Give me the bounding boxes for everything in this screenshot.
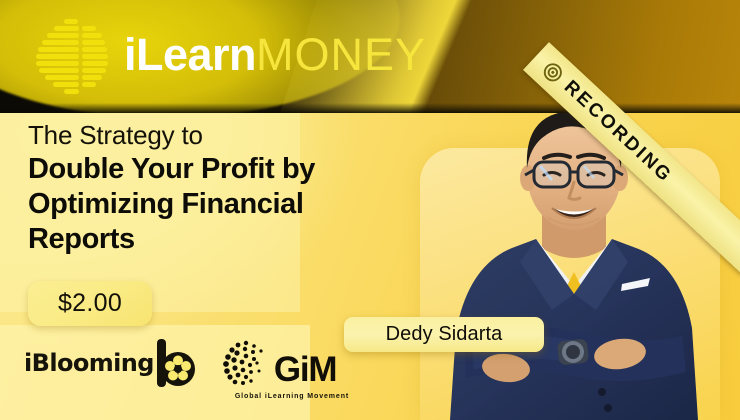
header-bottom-fade [0,103,740,113]
speaker-portrait [424,96,724,420]
price-value: $2.00 [58,289,122,318]
headline-line-4: Reports [28,222,398,257]
headline-line-1: The Strategy to [28,118,398,152]
brand-name-primary: iLearn [124,29,256,80]
headline: The Strategy to Double Your Profit by Op… [28,118,398,257]
speaker-name: Dedy Sidarta [386,323,503,346]
course-promo-card: iLearnMONEY RECORDING The Strategy to Do… [0,0,740,420]
sponsor-name-gim: GiM [274,353,337,387]
iblooming-flower-b-icon [155,338,195,388]
sponsor-tagline-gim: Global iLearning Movement [235,393,349,400]
sponsor-name-iblooming: iBlooming [24,349,154,377]
gim-dotted-sphere-icon [223,339,271,387]
speaker-name-badge: Dedy Sidarta [344,317,544,352]
price-badge[interactable]: $2.00 [28,281,152,326]
headline-line-3: Optimizing Financial [28,187,398,222]
ilearn-sphere-bars-icon [34,16,110,98]
brand-wordmark: iLearnMONEY [124,27,426,83]
sponsor-logos: iBlooming [24,338,336,388]
brand-name-secondary: MONEY [256,29,426,80]
sponsor-logo-gim[interactable]: GiM Global iLearning Movement [223,339,337,387]
headline-line-2: Double Your Profit by [28,152,398,187]
header-band: iLearnMONEY [0,0,740,113]
sponsor-logo-iblooming[interactable]: iBlooming [24,338,195,388]
record-circle-icon [540,59,567,86]
